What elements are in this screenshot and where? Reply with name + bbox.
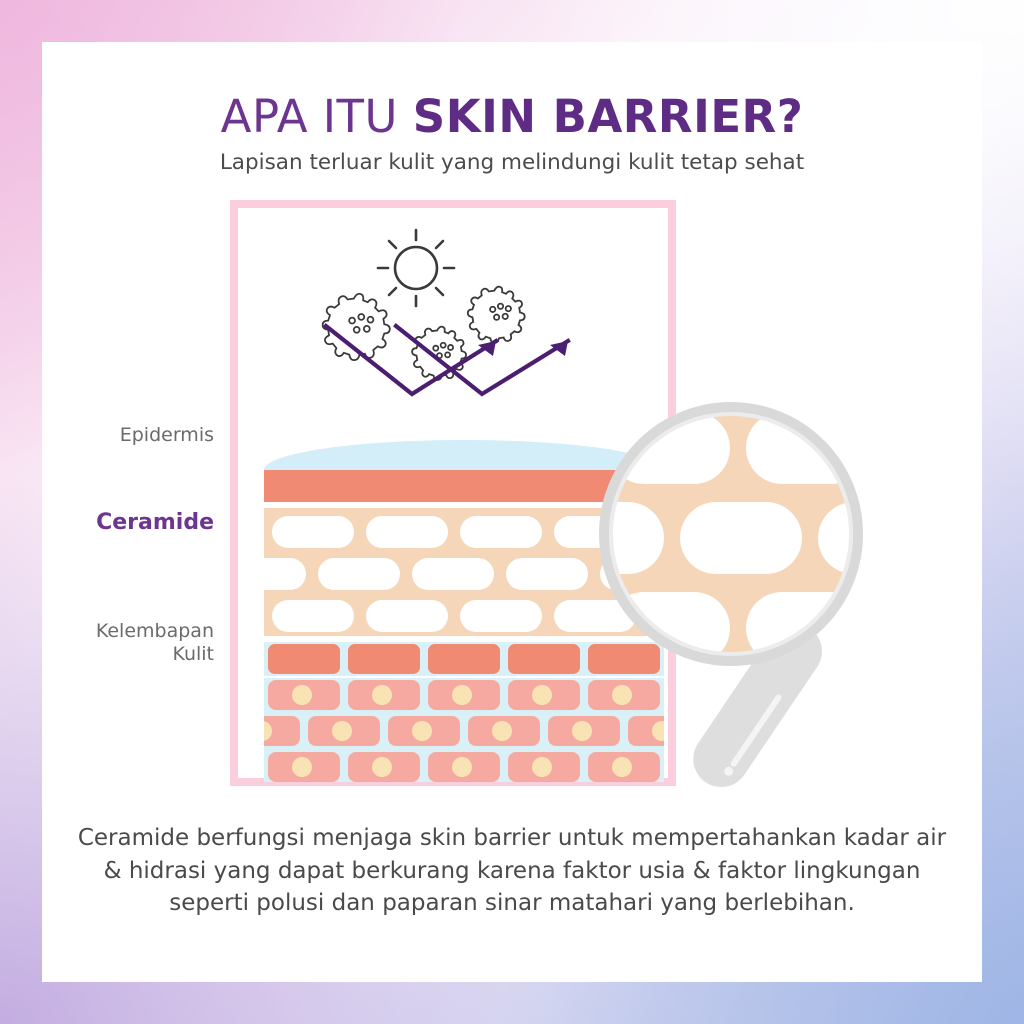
cell-nucleus — [372, 685, 392, 705]
ceramide-brick — [648, 600, 664, 632]
skin-cell — [264, 716, 300, 746]
footer-line-2: & hidrasi yang dapat berkurang karena fa… — [62, 855, 962, 888]
cell-nucleus — [332, 721, 352, 741]
skin-cell — [348, 752, 420, 782]
cell-nucleus — [532, 685, 552, 705]
epidermis-layer — [264, 470, 664, 502]
cell-nucleus — [292, 757, 312, 777]
moisture-surface-layer — [264, 440, 664, 470]
skin-layer-stack — [264, 440, 664, 782]
skin-cell — [348, 680, 420, 710]
skin-cell — [428, 680, 500, 710]
cell-nucleus — [652, 721, 664, 741]
sun-icon — [378, 230, 454, 306]
dermis-block — [508, 644, 580, 674]
skin-cell — [588, 752, 660, 782]
skin-cell — [268, 752, 340, 782]
skin-cell — [468, 716, 540, 746]
footer-line-3: seperti polusi dan paparan sinar matahar… — [62, 887, 962, 920]
cell-nucleus — [612, 757, 632, 777]
cell-nucleus — [264, 721, 272, 741]
label-moisture-line2: Kulit — [62, 643, 214, 666]
dermis-block — [588, 644, 660, 674]
poster-canvas: APA ITU SKIN BARRIER? Lapisan terluar ku… — [0, 0, 1024, 1024]
skin-cell — [308, 716, 380, 746]
cell-nucleus — [452, 685, 472, 705]
dermis-block — [428, 644, 500, 674]
skin-cell — [268, 680, 340, 710]
label-ceramide: Ceramide — [62, 510, 214, 537]
dermis-block-row — [264, 642, 664, 676]
cell-nucleus — [412, 721, 432, 741]
page-title: APA ITU SKIN BARRIER? — [42, 90, 982, 143]
ceramide-brick — [554, 516, 636, 548]
footer-paragraph: Ceramide berfungsi menjaga skin barrier … — [62, 822, 962, 920]
dermis-block — [348, 644, 420, 674]
cell-nucleus — [532, 757, 552, 777]
white-card: APA ITU SKIN BARRIER? Lapisan terluar ku… — [42, 42, 982, 982]
ceramide-brick — [272, 516, 354, 548]
sky-illustration — [238, 208, 668, 408]
magnifier-handle — [682, 612, 832, 798]
ceramide-brick — [460, 600, 542, 632]
virus-icon — [468, 287, 525, 343]
skin-cell — [508, 752, 580, 782]
cell-nucleus — [372, 757, 392, 777]
label-moisture: Kelembapan Kulit — [62, 620, 214, 666]
ceramide-layer — [264, 508, 664, 636]
virus-icon — [412, 327, 466, 380]
ceramide-brick — [318, 558, 400, 590]
ceramide-brick — [366, 600, 448, 632]
cell-nucleus — [572, 721, 592, 741]
cell-nucleus — [612, 685, 632, 705]
cell-nucleus — [292, 685, 312, 705]
skin-cell — [628, 716, 664, 746]
skin-cell — [428, 752, 500, 782]
ceramide-brick — [460, 516, 542, 548]
ceramide-brick — [264, 558, 306, 590]
ceramide-brick — [648, 516, 664, 548]
skin-cell — [508, 680, 580, 710]
cell-nucleus — [492, 721, 512, 741]
ceramide-brick — [506, 558, 588, 590]
label-moisture-line1: Kelembapan — [62, 620, 214, 643]
ceramide-brick — [366, 516, 448, 548]
cell-nucleus — [452, 757, 472, 777]
skin-cell — [548, 716, 620, 746]
ceramide-brick — [600, 558, 664, 590]
skin-cell — [588, 680, 660, 710]
diagram-frame — [230, 200, 676, 786]
ceramide-brick — [554, 600, 636, 632]
title-light-part: APA ITU — [221, 90, 413, 143]
ceramide-brick — [412, 558, 494, 590]
moisture-cell-area — [264, 678, 664, 782]
ceramide-brick — [272, 600, 354, 632]
label-epidermis: Epidermis — [62, 424, 214, 447]
footer-line-1: Ceramide berfungsi menjaga skin barrier … — [62, 822, 962, 855]
page-subtitle: Lapisan terluar kulit yang melindungi ku… — [42, 150, 982, 175]
skin-cell — [388, 716, 460, 746]
dermis-block — [268, 644, 340, 674]
title-bold-part: SKIN BARRIER? — [413, 90, 804, 143]
